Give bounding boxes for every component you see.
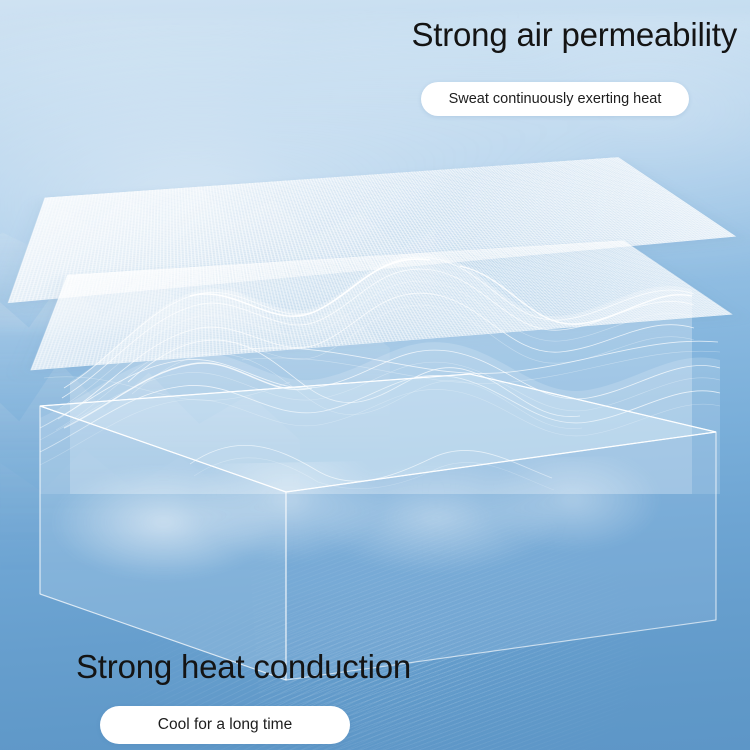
product-graphic-scene: Strong air permeability Sweat continuous… (0, 0, 750, 750)
badge-cool-long-time: Cool for a long time (100, 706, 350, 744)
headline-heat-conduction: Strong heat conduction (76, 648, 411, 686)
glass-block (0, 380, 750, 680)
badge-sweat-exerting-heat: Sweat continuously exerting heat (421, 82, 689, 116)
glass-block-svg (0, 380, 750, 680)
headline-air-permeability: Strong air permeability (411, 16, 737, 54)
